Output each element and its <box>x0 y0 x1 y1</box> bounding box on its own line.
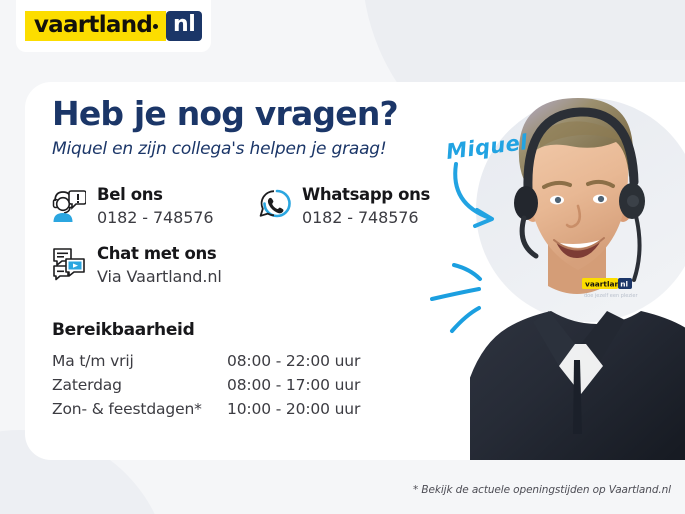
vaartland-logo[interactable]: vaartland nl <box>16 0 211 52</box>
contact-chat[interactable]: Chat met ons Via Vaartland.nl <box>52 245 452 286</box>
decorative-sparks-icon <box>430 243 515 338</box>
content-column: Heb je nog vragen? Miquel en zijn colleg… <box>52 96 452 421</box>
contact-row-primary: Bel ons 0182 - 748576 Whatsapp on <box>52 186 452 227</box>
contact-whatsapp-title: Whatsapp ons <box>302 185 430 204</box>
hours-time: 08:00 - 22:00 uur <box>227 349 360 373</box>
headset-person-icon <box>52 187 86 223</box>
contact-chat-title: Chat met ons <box>97 244 216 263</box>
contact-call-title: Bel ons <box>97 185 163 204</box>
contact-row-secondary: Chat met ons Via Vaartland.nl <box>52 245 452 286</box>
table-row: Zaterdag 08:00 - 17:00 uur <box>52 373 360 397</box>
logo-tld: nl <box>173 14 195 36</box>
curved-arrow-icon <box>446 158 538 236</box>
footnote: * Bekijk de actuele openingstijden op Va… <box>413 484 671 496</box>
opening-hours-table: Ma t/m vrij 08:00 - 22:00 uur Zaterdag 0… <box>52 349 360 421</box>
table-row: Zon- & feestdagen* 10:00 - 20:00 uur <box>52 397 360 421</box>
contact-call[interactable]: Bel ons 0182 - 748576 <box>52 186 227 227</box>
contact-whatsapp-value[interactable]: 0182 - 748576 <box>302 208 430 227</box>
logo-navy-plate: nl <box>166 11 202 41</box>
whatsapp-icon <box>257 187 291 223</box>
chat-bubbles-icon <box>52 246 86 282</box>
hours-time: 08:00 - 17:00 uur <box>227 373 360 397</box>
contact-banner: vaartland nl <box>0 0 685 514</box>
contact-call-value[interactable]: 0182 - 748576 <box>97 208 213 227</box>
polo-tagline: doe jezelf een plezier <box>584 293 638 299</box>
opening-hours: Bereikbaarheid Ma t/m vrij 08:00 - 22:00… <box>52 320 452 421</box>
page-subtitle: Miquel en zijn collega's helpen je graag… <box>52 139 452 159</box>
contact-chat-text: Chat met ons Via Vaartland.nl <box>97 245 222 286</box>
polo-logo-tld: nl <box>620 280 628 289</box>
contact-whatsapp[interactable]: Whatsapp ons 0182 - 748576 <box>257 186 430 227</box>
contact-methods: Bel ons 0182 - 748576 Whatsapp on <box>52 186 452 286</box>
hours-day: Zaterdag <box>52 373 227 397</box>
hours-day: Zon- & feestdagen* <box>52 397 227 421</box>
contact-chat-value[interactable]: Via Vaartland.nl <box>97 267 222 286</box>
hours-time: 10:00 - 20:00 uur <box>227 397 360 421</box>
page-title: Heb je nog vragen? <box>52 96 452 132</box>
contact-call-text: Bel ons 0182 - 748576 <box>97 186 213 227</box>
logo-dot-icon <box>153 24 158 29</box>
logo-yellow-plate: vaartland <box>25 11 166 41</box>
hours-day: Ma t/m vrij <box>52 349 227 373</box>
table-row: Ma t/m vrij 08:00 - 22:00 uur <box>52 349 360 373</box>
opening-hours-title: Bereikbaarheid <box>52 320 452 340</box>
logo-lockup: vaartland nl <box>25 11 202 41</box>
contact-whatsapp-text: Whatsapp ons 0182 - 748576 <box>302 186 430 227</box>
logo-wordmark: vaartland <box>34 14 152 37</box>
